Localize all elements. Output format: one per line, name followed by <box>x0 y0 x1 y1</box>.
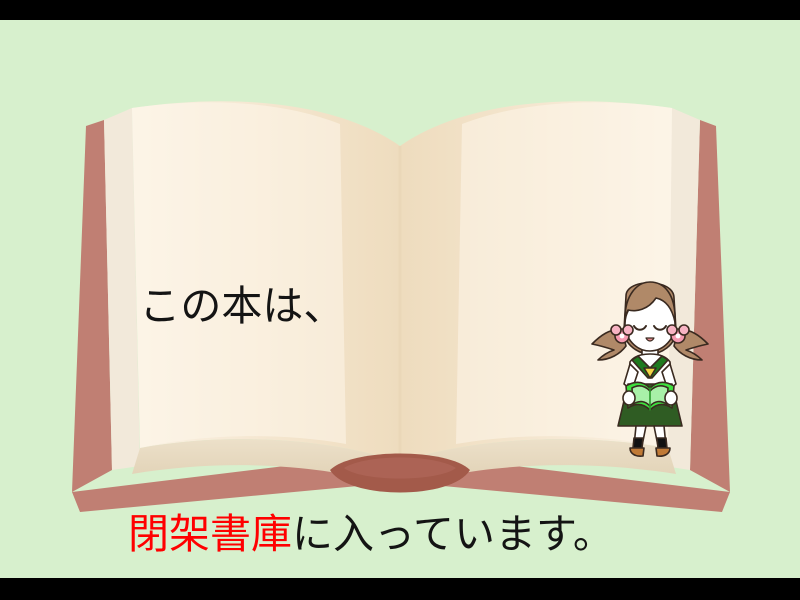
closed-stacks-highlight: 閉架書庫 <box>128 511 292 557</box>
mouth <box>646 338 654 341</box>
shoe-left <box>630 448 644 456</box>
girl-reading-illustration <box>586 268 714 460</box>
letterbox-bottom <box>0 578 800 600</box>
slide-canvas: この本は、 閉架書庫に入っています。 図書館員に 問い合わせください。 <box>0 0 800 600</box>
shoe-right <box>656 448 670 456</box>
notice-line-1-text: この本は、 <box>128 283 344 329</box>
notice-line-2: 閉架書庫に入っています。 <box>128 496 688 572</box>
sock-cuff-left <box>633 438 643 448</box>
hand-left <box>623 391 635 405</box>
letterbox-top <box>0 0 800 20</box>
notice-line-2-rest: に入っています。 <box>292 511 614 557</box>
hand-right <box>665 391 677 405</box>
sock-cuff-right <box>657 438 667 448</box>
